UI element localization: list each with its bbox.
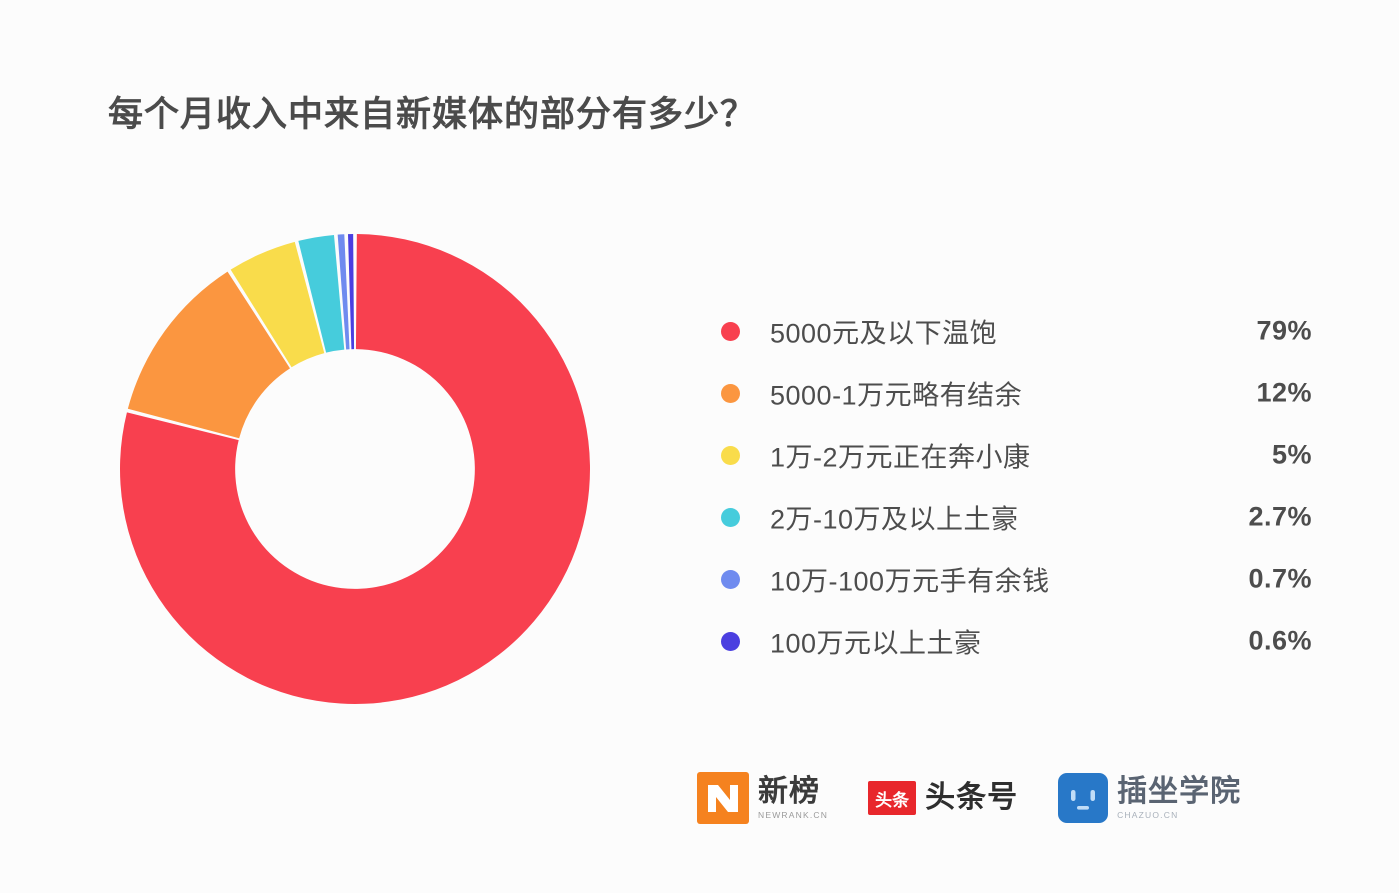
legend-color-swatch-icon [721,632,740,651]
chart-legend: 5000元及以下温饱 79% 5000-1万元略有结余 12% 1万-2万元正在… [712,300,1312,672]
donut-slices [120,234,590,704]
legend-item-value: 79% [1172,316,1312,347]
legend-item-3[interactable]: 2万-10万及以上土豪 2.7% [712,486,1312,548]
legend-item-value: 5% [1172,440,1312,471]
chazuo-face-logo-icon [1058,773,1108,823]
donut-chart [118,232,592,706]
logo-toutiaohao[interactable]: 头条 头条号 [868,781,1018,815]
legend-item-5[interactable]: 100万元以上土豪 0.6% [712,610,1312,672]
legend-item-label: 10万-100万元手有余钱 [770,560,1050,599]
footer-logo-bar: 新榜 NEWRANK.CN 头条 头条号 插坐学院 CHAZUO.CN [697,772,1241,824]
chazuo-logo-text: 插坐学院 CHAZUO.CN [1117,777,1241,820]
legend-item-value: 2.7% [1172,502,1312,533]
legend-item-1[interactable]: 5000-1万元略有结余 12% [712,362,1312,424]
legend-color-swatch-icon [721,508,740,527]
toutiao-badge-icon: 头条 [868,781,916,815]
legend-item-0[interactable]: 5000元及以下温饱 79% [712,300,1312,362]
logo-newrank[interactable]: 新榜 NEWRANK.CN [697,772,828,824]
logo-subtitle: CHAZUO.CN [1117,811,1241,820]
legend-item-4[interactable]: 10万-100万元手有余钱 0.7% [712,548,1312,610]
logo-name: 头条号 [925,783,1018,813]
donut-chart-svg [118,232,592,706]
legend-item-value: 0.7% [1172,564,1312,595]
legend-item-label: 100万元以上土豪 [770,622,982,661]
newrank-logo-text: 新榜 NEWRANK.CN [758,777,828,820]
logo-chazuo-xueyuan[interactable]: 插坐学院 CHAZUO.CN [1058,773,1241,823]
page-title: 每个月收入中来自新媒体的部分有多少？ [108,86,756,137]
donut-slice[interactable] [348,234,354,349]
legend-color-swatch-icon [721,384,740,403]
logo-name: 插坐学院 [1117,777,1241,807]
legend-item-label: 2万-10万及以上土豪 [770,498,1019,537]
legend-item-label: 1万-2万元正在奔小康 [770,436,1031,475]
legend-item-2[interactable]: 1万-2万元正在奔小康 5% [712,424,1312,486]
legend-item-value: 0.6% [1172,626,1312,657]
newrank-logo-icon [697,772,749,824]
slide-canvas: 每个月收入中来自新媒体的部分有多少？ 5000元及以下温饱 79% 5000-1… [0,0,1399,893]
legend-item-label: 5000-1万元略有结余 [770,374,1022,413]
legend-item-value: 12% [1172,378,1312,409]
toutiaohao-logo-text: 头条号 [925,783,1018,813]
logo-name: 新榜 [758,777,828,807]
logo-subtitle: NEWRANK.CN [758,811,828,820]
toutiao-badge-label: 头条 [875,786,909,811]
legend-color-swatch-icon [721,322,740,341]
legend-color-swatch-icon [721,446,740,465]
legend-color-swatch-icon [721,570,740,589]
legend-item-label: 5000元及以下温饱 [770,312,997,351]
